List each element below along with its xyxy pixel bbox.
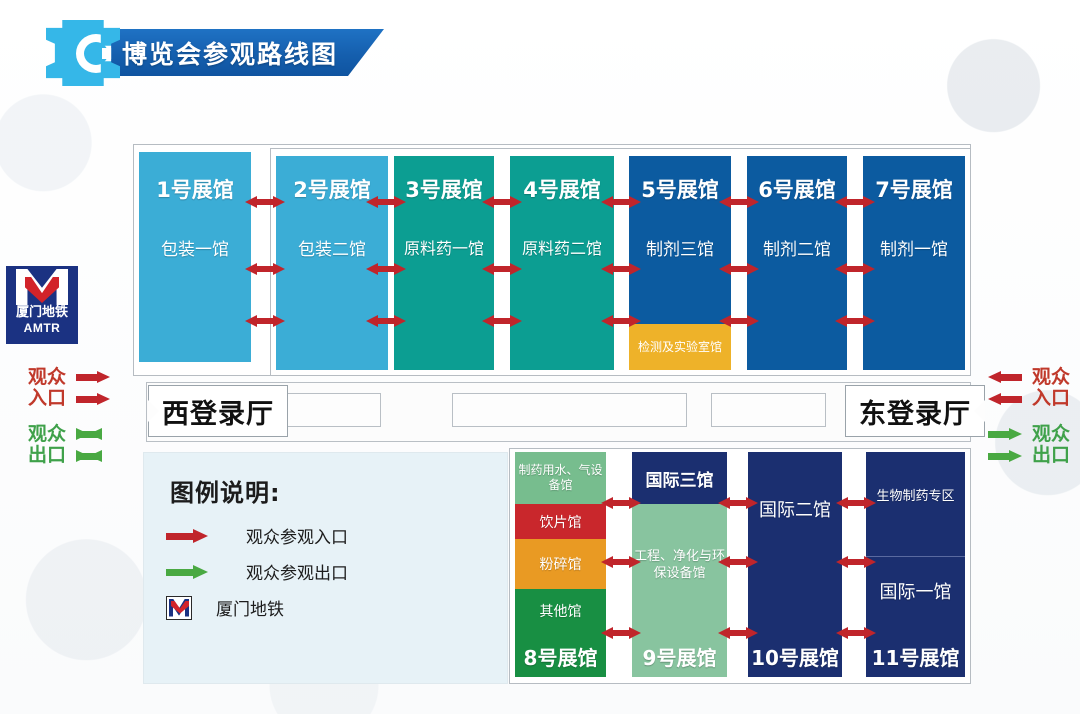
hexagon-c-logo-icon — [46, 20, 120, 86]
hall-2-subtitle: 包装二馆 — [276, 235, 388, 260]
east-entrance-arrow-2-icon — [988, 393, 1022, 405]
west-entrance-arrow-1-icon — [76, 371, 110, 383]
metro-logo-cn-label: 厦门地铁 — [16, 305, 68, 321]
corridor-cell-3 — [452, 393, 687, 427]
hall-11-zone-intl-1[interactable]: 国际一馆 — [866, 577, 965, 605]
hall-9-zone-intl-3[interactable]: 国际三馆 — [632, 452, 727, 504]
hall-3-subtitle: 原料药一馆 — [394, 235, 494, 259]
passage-arrow-4-5-top — [601, 196, 641, 209]
west-entrance-label-2: 入口 — [28, 388, 66, 409]
hall-10[interactable]: 国际二馆 10号展馆 — [748, 452, 842, 677]
passage-arrow-10-11-bot — [836, 627, 876, 640]
hall-8-number: 8号展馆 — [515, 642, 606, 671]
hall-4-subtitle: 原料药二馆 — [510, 235, 614, 259]
east-lobby[interactable]: 东登录厅 — [845, 385, 985, 437]
west-exit-arrow-2-icon — [76, 450, 110, 462]
passage-arrow-3-4-bot — [482, 315, 522, 328]
metro-logo-en-label: AMTR — [24, 321, 61, 335]
hall-4[interactable]: 4号展馆 原料药二馆 — [510, 156, 614, 370]
hall-8[interactable]: 制药用水、气设备馆 饮片馆 粉碎馆 其他馆 8号展馆 — [515, 452, 606, 677]
west-entrance-label-1: 观众 — [28, 367, 66, 388]
hall-1-number: 1号展馆 — [139, 174, 251, 204]
west-exit-label-2: 出口 — [28, 445, 66, 466]
passage-arrow-2-3-top — [366, 196, 406, 209]
red-arrow-icon — [166, 529, 208, 543]
hall-8-zone-yinpian-label: 饮片馆 — [540, 512, 582, 532]
xiamen-metro-logo-icon — [166, 596, 192, 620]
passage-arrow-9-10-mid — [718, 556, 758, 569]
passage-arrow-8-9-top — [601, 497, 641, 510]
hall-5-subtitle: 制剂三馆 — [629, 235, 731, 260]
passage-arrow-1-2-bot — [245, 315, 285, 328]
west-exit-arrow-1-icon — [76, 428, 110, 440]
hall-11-number: 11号展馆 — [866, 642, 965, 671]
hall-6[interactable]: 6号展馆 制剂二馆 — [747, 156, 847, 370]
passage-arrow-5-6-top — [719, 196, 759, 209]
hall-3[interactable]: 3号展馆 原料药一馆 — [394, 156, 494, 370]
passage-arrow-8-9-bot — [601, 627, 641, 640]
hall-1[interactable]: 1号展馆 包装一馆 — [139, 152, 251, 362]
passage-arrow-10-11-top — [836, 497, 876, 510]
east-entrance-group: 观众 入口 — [988, 367, 1070, 409]
hall-8-zone-water-gas[interactable]: 制药用水、气设备馆 — [515, 452, 606, 504]
hall-1-subtitle: 包装一馆 — [139, 235, 251, 260]
passage-arrow-1-2-top — [245, 196, 285, 209]
passage-arrow-6-7-bot — [835, 315, 875, 328]
title-ribbon: 博览会参观路线图 — [84, 29, 384, 76]
hall-7[interactable]: 7号展馆 制剂一馆 — [863, 156, 965, 370]
legend-exit-label: 观众参观出口 — [246, 559, 348, 584]
hall-10-number: 10号展馆 — [748, 642, 842, 671]
passage-arrow-6-7-top — [835, 196, 875, 209]
legend-item-entrance: 观众参观入口 — [166, 523, 348, 548]
hall-5-number: 5号展馆 — [629, 174, 731, 204]
passage-arrow-3-4-mid — [482, 263, 522, 276]
legend-item-metro: 厦门地铁 — [166, 595, 284, 620]
west-entrance-arrow-2-icon — [76, 393, 110, 405]
east-exit-arrow-1-icon — [988, 428, 1022, 440]
corridor-cell-2 — [283, 393, 381, 427]
east-entrance-arrow-1-icon — [988, 371, 1022, 383]
hall-8-zone-fensui[interactable]: 粉碎馆 — [515, 539, 606, 589]
east-entrance-label-2: 入口 — [1032, 388, 1070, 409]
hall-9[interactable]: 国际三馆 工程、净化与环保设备馆 9号展馆 — [632, 452, 727, 677]
passage-arrow-8-9-mid — [601, 556, 641, 569]
west-lobby-label: 西登录厅 — [162, 392, 274, 431]
west-lobby[interactable]: 西登录厅 — [148, 385, 288, 437]
floorplan-root: 博览会参观路线图 厦门地铁 AMTR 1号展馆 包装一馆 2号展馆 包装二馆 3… — [0, 0, 1080, 714]
passage-arrow-5-6-bot — [719, 315, 759, 328]
hall-9-zone-intl-3-label: 国际三馆 — [646, 466, 714, 491]
passage-arrow-6-7-mid — [835, 263, 875, 276]
passage-arrow-3-4-top — [482, 196, 522, 209]
hall-7-number: 7号展馆 — [863, 174, 965, 204]
passage-arrow-4-5-bot — [601, 315, 641, 328]
passage-arrow-4-5-mid — [601, 263, 641, 276]
hall-7-subtitle: 制剂一馆 — [863, 235, 965, 260]
hall-10-zone-intl-2[interactable]: 国际二馆 — [748, 494, 842, 524]
hall-11-zone-intl-1-label: 国际一馆 — [880, 578, 952, 604]
xiamen-metro-logo-icon: 厦门地铁 AMTR — [6, 266, 78, 344]
hall-9-zone-engineering-label: 工程、净化与环保设备馆 — [632, 548, 727, 582]
hall-3-number: 3号展馆 — [394, 174, 494, 204]
hall-10-zone-intl-2-label: 国际二馆 — [759, 496, 831, 522]
east-exit-label-1: 观众 — [1032, 424, 1070, 445]
hall-5-zone-lab[interactable]: 检测及实验室馆 — [629, 324, 731, 370]
hall-11-zone-biopharma[interactable]: 生物制药专区 — [866, 482, 965, 506]
east-exit-group: 观众 出口 — [988, 424, 1070, 466]
east-entrance-label-1: 观众 — [1032, 367, 1070, 388]
passage-arrow-2-3-mid — [366, 263, 406, 276]
hall-9-number: 9号展馆 — [632, 642, 727, 671]
hall-11-zone-biopharma-label: 生物制药专区 — [876, 485, 954, 504]
legend-item-exit: 观众参观出口 — [166, 559, 348, 584]
passage-arrow-10-11-mid — [836, 556, 876, 569]
hall-6-subtitle: 制剂二馆 — [747, 235, 847, 260]
passage-arrow-9-10-top — [718, 497, 758, 510]
hall-11-divider — [866, 556, 965, 557]
hall-6-number: 6号展馆 — [747, 174, 847, 204]
corridor-cell-4 — [711, 393, 826, 427]
page-title: 博览会参观路线图 — [122, 35, 338, 71]
title-banner: 博览会参观路线图 — [28, 20, 384, 82]
west-exit-label-1: 观众 — [28, 424, 66, 445]
passage-arrow-2-3-bot — [366, 315, 406, 328]
east-exit-label-2: 出口 — [1032, 445, 1070, 466]
metro-m-mark-icon — [16, 269, 68, 305]
west-exit-group: 观众 出口 — [28, 424, 110, 466]
hall-5-zone-label: 检测及实验室馆 — [638, 340, 722, 354]
hall-8-zone-other-label: 其他馆 — [540, 601, 582, 621]
legend-metro-label: 厦门地铁 — [216, 595, 284, 620]
west-entrance-group: 观众 入口 — [28, 367, 110, 409]
legend-panel: 图例说明: 观众参观入口 观众参观出口 厦门地铁 — [143, 452, 508, 684]
hall-8-zone-fensui-label: 粉碎馆 — [540, 554, 582, 574]
legend-entrance-label: 观众参观入口 — [246, 523, 348, 548]
legend-title: 图例说明: — [170, 473, 281, 508]
passage-arrow-9-10-bot — [718, 627, 758, 640]
hall-4-number: 4号展馆 — [510, 174, 614, 204]
green-arrow-icon — [166, 565, 208, 579]
hall-8-zone-water-gas-label: 制药用水、气设备馆 — [515, 463, 606, 493]
hall-8-zone-yinpian[interactable]: 饮片馆 — [515, 504, 606, 539]
passage-arrow-1-2-mid — [245, 263, 285, 276]
east-exit-arrow-2-icon — [988, 450, 1022, 462]
east-lobby-label: 东登录厅 — [859, 392, 971, 431]
hall-5[interactable]: 5号展馆 制剂三馆 检测及实验室馆 — [629, 156, 731, 370]
passage-arrow-5-6-mid — [719, 263, 759, 276]
hall-11[interactable]: 生物制药专区 国际一馆 11号展馆 — [866, 452, 965, 677]
